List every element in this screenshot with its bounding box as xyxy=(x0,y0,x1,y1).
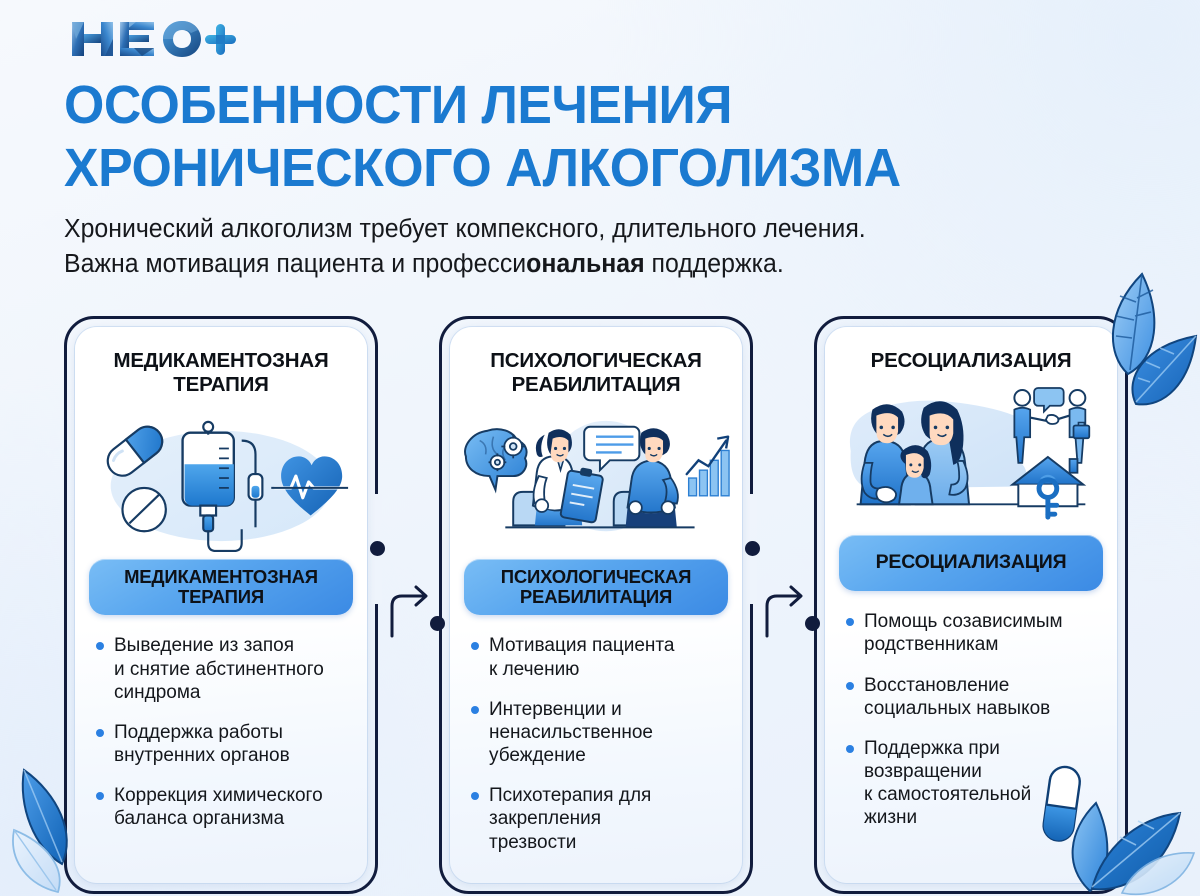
stage-card-medikamentoznaya-terapiya[interactable]: МЕДИКАМЕНТОЗНАЯ ТЕРАПИЯ xyxy=(64,316,378,894)
stage-card-psihologicheskaya-reabilitaciya[interactable]: ПСИХОЛОГИЧЕСКАЯ РЕАБИЛИТАЦИЯ xyxy=(439,316,753,894)
subtitle-text-after-bold: поддержка. xyxy=(645,250,784,278)
page-subtitle: Хронический алкоголизм требует компексно… xyxy=(64,212,1039,282)
list-item: Коррекция химического баланса организма xyxy=(94,784,347,830)
stage-pill-label[interactable]: ПСИХОЛОГИЧЕСКАЯ РЕАБИЛИТАЦИЯ xyxy=(464,559,728,615)
connector-node-dot-top xyxy=(745,541,760,556)
subtitle-line-2: Важна мотивация пациента и профессиональ… xyxy=(64,247,1039,282)
treatment-stages-row: МЕДИКАМЕНТОЗНАЯ ТЕРАПИЯ xyxy=(0,316,1200,894)
card-heading: МЕДИКАМЕНТОЗНАЯ ТЕРАПИЯ xyxy=(89,349,353,397)
card-body: РЕСОЦИАЛИЗАЦИЯ xyxy=(825,327,1117,883)
subtitle-text-before-bold: Важна мотивация пациента и професси xyxy=(64,250,526,278)
pills-iv-drip-heart-ecg-illustration xyxy=(75,405,367,557)
list-item: Выведение из запоя и снятие абстинентног… xyxy=(94,634,347,704)
family-handshake-house-key-illustration xyxy=(825,381,1117,533)
list-item: Интервенции и ненасильственное убеждение xyxy=(469,698,722,768)
stage-card-resocializaciya[interactable]: РЕСОЦИАЛИЗАЦИЯ xyxy=(814,316,1128,894)
card-bullet-list: Мотивация пациента к лечению Интервенции… xyxy=(469,634,722,853)
connector-node-dot-top xyxy=(370,541,385,556)
brain-gears-therapist-patient-growth-chart-illustration xyxy=(450,405,742,557)
connector-node-dot-lower-1 xyxy=(430,616,445,631)
stage-pill-label[interactable]: РЕСОЦИАЛИЗАЦИЯ xyxy=(839,535,1103,591)
card-heading: ПСИХОЛОГИЧЕСКАЯ РЕАБИЛИТАЦИЯ xyxy=(464,349,728,397)
subtitle-line-1: Хронический алкоголизм требует компексно… xyxy=(64,212,1039,247)
card-bullet-list: Помощь созависимым родственникам Восстан… xyxy=(844,610,1097,829)
stage-pill-label[interactable]: МЕДИКАМЕНТОЗНАЯ ТЕРАПИЯ xyxy=(89,559,353,615)
list-item: Поддержка при возвращении к самостоятель… xyxy=(844,737,1097,830)
list-item: Психотерапия для закрепления трезвости xyxy=(469,784,722,854)
list-item: Помощь созависимым родственникам xyxy=(844,610,1097,656)
card-heading: РЕСОЦИАЛИЗАЦИЯ xyxy=(839,349,1103,373)
infographic-page: ОСОБЕННОСТИ ЛЕЧЕНИЯ ХРОНИЧЕСКОГО АЛКОГОЛ… xyxy=(0,0,1200,896)
subtitle-bold-fragment: ональная xyxy=(526,250,644,278)
page-title: ОСОБЕННОСТИ ЛЕЧЕНИЯ ХРОНИЧЕСКОГО АЛКОГОЛ… xyxy=(64,74,1110,200)
list-item: Поддержка работы внутренних органов xyxy=(94,721,347,767)
neo-plus-logo xyxy=(66,14,241,64)
card-bullet-list: Выведение из запоя и снятие абстинентног… xyxy=(94,634,347,830)
list-item: Мотивация пациента к лечению xyxy=(469,634,722,680)
connector-node-dot-lower-2 xyxy=(805,616,820,631)
card-body: МЕДИКАМЕНТОЗНАЯ ТЕРАПИЯ xyxy=(75,327,367,883)
card-body: ПСИХОЛОГИЧЕСКАЯ РЕАБИЛИТАЦИЯ xyxy=(450,327,742,883)
list-item: Восстановление социальных навыков xyxy=(844,674,1097,720)
